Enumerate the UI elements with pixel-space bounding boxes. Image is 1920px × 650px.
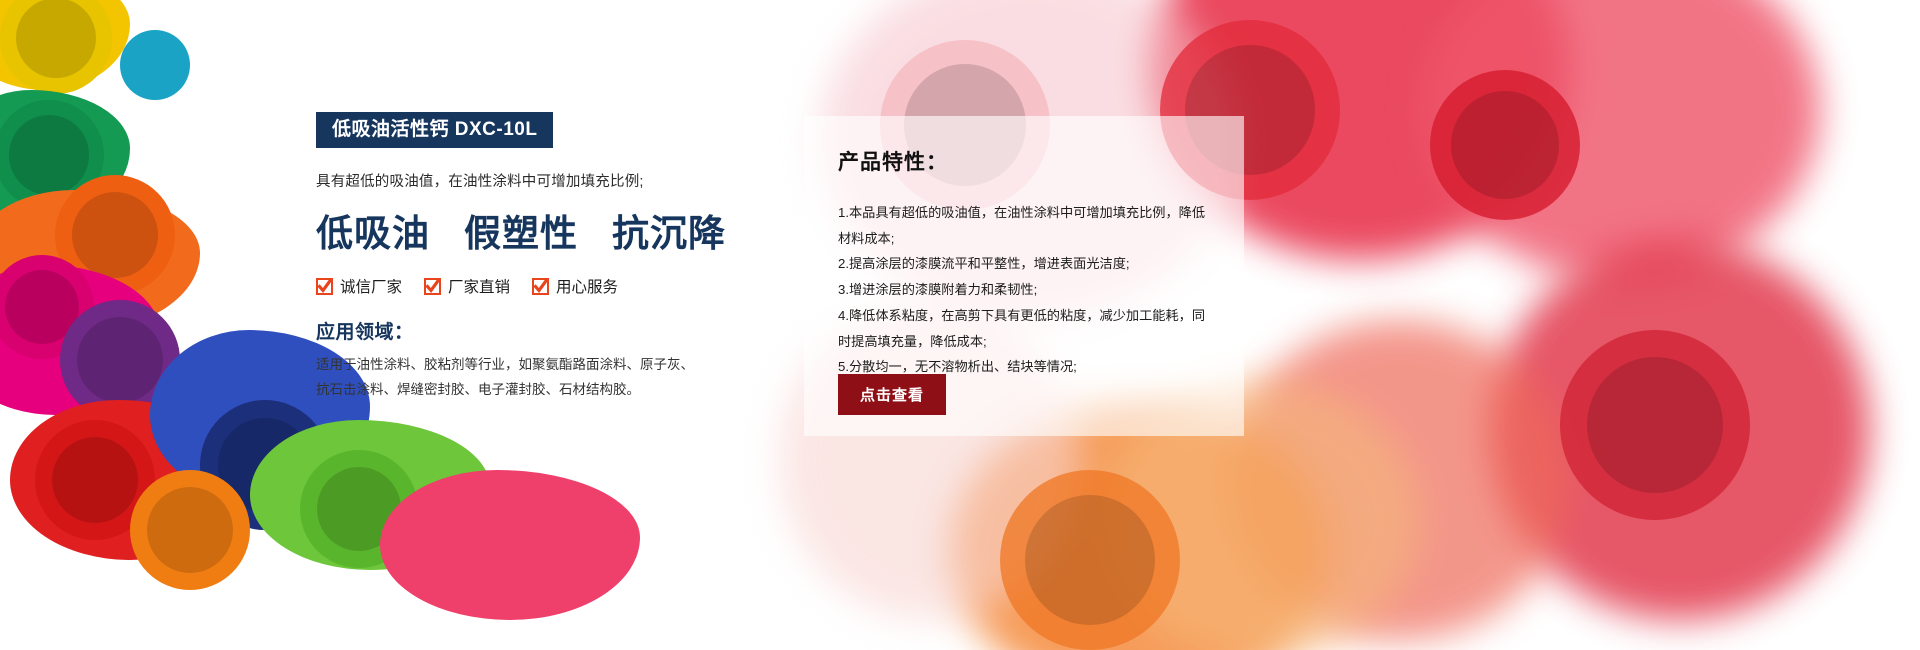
paint-smear-lightgreen bbox=[250, 420, 490, 570]
trust-badge-label-1: 诚信厂家 bbox=[340, 275, 402, 297]
paint-pool-red-right bbox=[1430, 70, 1580, 220]
paint-can-magenta bbox=[0, 255, 94, 359]
watercolor-wash-rose bbox=[1420, 0, 1820, 280]
trust-badge-1: 诚信厂家 bbox=[316, 275, 402, 297]
application-field-title: 应用领域： bbox=[316, 317, 716, 344]
paint-smear-red bbox=[10, 400, 250, 560]
view-details-button[interactable]: 点击查看 bbox=[838, 374, 946, 415]
feature-list-item: 1.本品具有超低的吸油值，在油性涂料中可增加填充比例，降低材料成本; bbox=[838, 200, 1210, 251]
trust-badge-label-2: 厂家直销 bbox=[448, 275, 510, 297]
paint-smear-pink-bottom bbox=[380, 470, 640, 620]
headline-keyword-3: 抗沉降 bbox=[612, 203, 726, 257]
checkbox-checked-icon bbox=[316, 278, 333, 295]
trust-badge-2: 厂家直销 bbox=[424, 275, 510, 297]
paint-drip-teal bbox=[120, 30, 190, 100]
headline-keyword-2: 假塑性 bbox=[464, 203, 578, 257]
watercolor-wash-deepred bbox=[1490, 240, 1870, 620]
feature-list: 1.本品具有超低的吸油值，在油性涂料中可增加填充比例，降低材料成本; 2.提高涂… bbox=[838, 200, 1210, 380]
feature-list-item: 3.增进涂层的漆膜附着力和柔韧性; bbox=[838, 277, 1210, 303]
feature-list-item: 2.提高涂层的漆膜流平和平整性，增进表面光洁度; bbox=[838, 251, 1210, 277]
paint-can-orange-bottom bbox=[130, 470, 250, 590]
trust-badge-row: 诚信厂家 厂家直销 用心服务 bbox=[316, 275, 716, 297]
paint-can-orange bbox=[55, 175, 175, 295]
paint-can-red bbox=[35, 420, 155, 540]
product-subtitle: 具有超低的吸油值，在油性涂料中可增加填充比例; bbox=[316, 170, 716, 191]
product-feature-panel: 产品特性： 1.本品具有超低的吸油值，在油性涂料中可增加填充比例，降低材料成本;… bbox=[804, 116, 1244, 436]
feature-list-item: 4.降低体系粘度，在高剪下具有更低的粘度，减少加工能耗，同时提高填充量，降低成本… bbox=[838, 303, 1210, 354]
paint-can-yellow bbox=[0, 0, 112, 94]
paint-can-purple bbox=[60, 300, 180, 420]
checkbox-checked-icon bbox=[532, 278, 549, 295]
paint-pool-red-bottomright bbox=[1560, 330, 1750, 520]
watercolor-wash-orange bbox=[950, 400, 1330, 650]
left-content-column: 低吸油活性钙 DXC-10L 具有超低的吸油值，在油性涂料中可增加填充比例; 低… bbox=[316, 112, 716, 403]
application-field-body: 适用于油性涂料、胶粘剂等行业，如聚氨酯路面涂料、原子灰、抗石击涂料、焊缝密封胶、… bbox=[316, 353, 706, 403]
watercolor-wash-coral bbox=[1230, 320, 1570, 640]
trust-badge-label-3: 用心服务 bbox=[556, 275, 618, 297]
trust-badge-3: 用心服务 bbox=[532, 275, 618, 297]
checkbox-checked-icon bbox=[424, 278, 441, 295]
paint-can-navyblue bbox=[200, 400, 330, 530]
promo-banner: 低吸油活性钙 DXC-10L 具有超低的吸油值，在油性涂料中可增加填充比例; 低… bbox=[0, 0, 1920, 650]
paint-can-lightgreen bbox=[300, 450, 418, 568]
paint-smear-magenta bbox=[0, 265, 160, 415]
product-title-badge: 低吸油活性钙 DXC-10L bbox=[316, 112, 553, 148]
paint-smear-orange bbox=[0, 190, 200, 330]
panel-heading: 产品特性： bbox=[838, 146, 1210, 176]
headline-keyword-1: 低吸油 bbox=[316, 203, 430, 257]
headline-keywords: 低吸油 假塑性 抗沉降 bbox=[316, 203, 716, 257]
paint-can-green bbox=[0, 100, 104, 210]
paint-smear-yellow bbox=[0, 0, 130, 90]
paint-smear-green bbox=[0, 90, 130, 220]
panel-content: 产品特性： 1.本品具有超低的吸油值，在油性涂料中可增加填充比例，降低材料成本;… bbox=[804, 116, 1244, 380]
paint-pool-orange-bottom bbox=[1000, 470, 1180, 650]
